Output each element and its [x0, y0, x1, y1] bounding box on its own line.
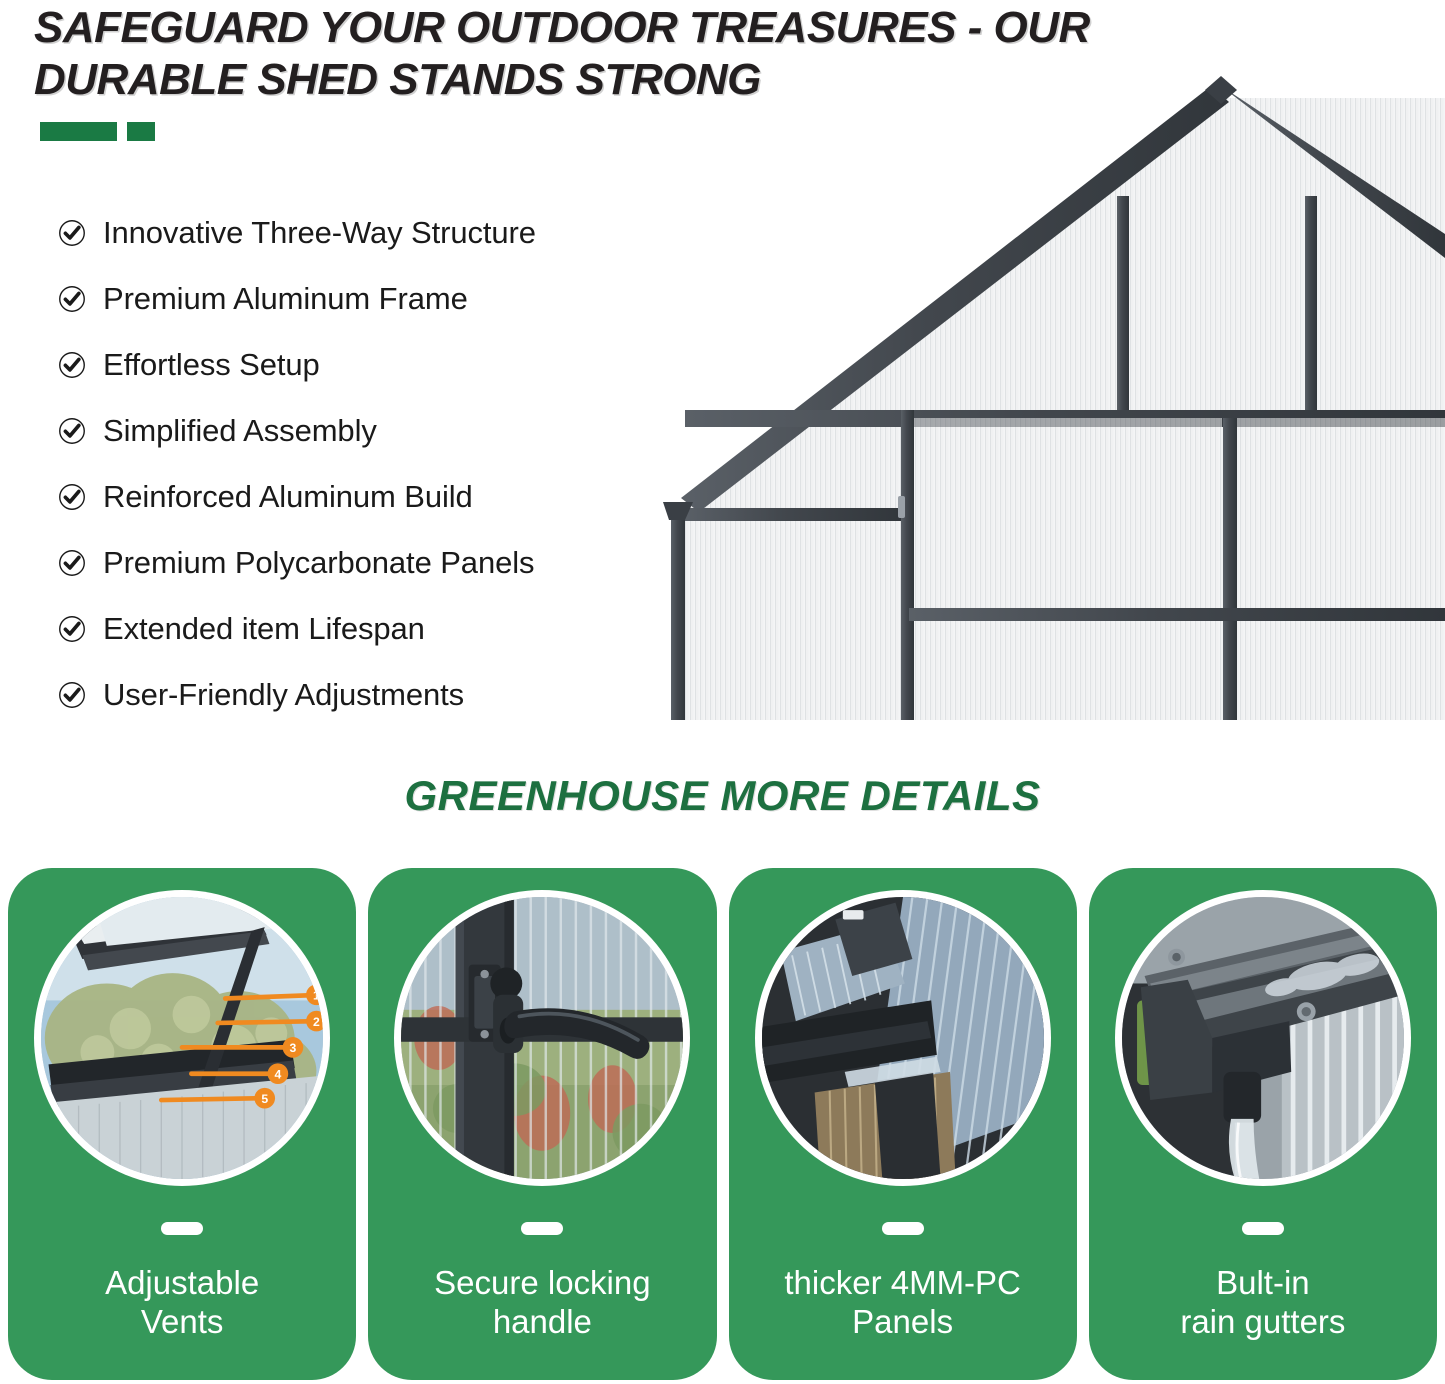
greenhouse-hero-image — [655, 20, 1445, 740]
check-circle-icon — [58, 351, 86, 379]
check-circle-icon — [58, 417, 86, 445]
check-circle-icon — [58, 549, 86, 577]
list-item: Premium Aluminum Frame — [58, 266, 698, 332]
card-caption: Adjustable Vents — [8, 1264, 356, 1341]
list-item: Simplified Assembly — [58, 398, 698, 464]
card-caption-line-2: Vents — [16, 1303, 348, 1342]
card-divider-pill — [882, 1222, 924, 1235]
card-caption-line-2: Panels — [737, 1303, 1069, 1342]
card-caption-line-1: thicker 4MM-PC — [784, 1264, 1021, 1301]
bullet-label: Innovative Three-Way Structure — [103, 215, 536, 251]
card-caption-line-2: handle — [376, 1303, 708, 1342]
photo-frame: 1 2 3 4 5 — [34, 890, 330, 1186]
rain-gutter-photo — [1122, 897, 1404, 1179]
svg-text:2: 2 — [313, 1015, 320, 1029]
svg-text:3: 3 — [290, 1041, 297, 1055]
check-circle-icon — [58, 483, 86, 511]
svg-text:5: 5 — [261, 1092, 268, 1106]
list-item: User-Friendly Adjustments — [58, 662, 698, 728]
bullet-label: Reinforced Aluminum Build — [103, 479, 473, 515]
bullet-label: Effortless Setup — [103, 347, 320, 383]
locking-handle-photo — [401, 897, 683, 1179]
bullet-label: Extended item Lifespan — [103, 611, 425, 647]
bullet-label: Premium Aluminum Frame — [103, 281, 468, 317]
card-caption-line-1: Secure locking — [434, 1264, 650, 1301]
check-circle-icon — [58, 219, 86, 247]
check-circle-icon — [58, 681, 86, 709]
accent-bar-narrow — [127, 122, 155, 141]
bullet-label: User-Friendly Adjustments — [103, 677, 464, 713]
card-caption-line-1: Adjustable — [105, 1264, 259, 1301]
list-item: Extended item Lifespan — [58, 596, 698, 662]
list-item: Effortless Setup — [58, 332, 698, 398]
detail-card-rain-gutters[interactable]: Bult-in rain gutters — [1089, 868, 1437, 1380]
list-item: Innovative Three-Way Structure — [58, 200, 698, 266]
accent-bar-wide — [40, 122, 117, 141]
detail-card-secure-locking-handle[interactable]: Secure locking handle — [368, 868, 716, 1380]
polycarbonate-panels-photo — [762, 897, 1044, 1179]
photo-frame — [1115, 890, 1411, 1186]
check-circle-icon — [58, 285, 86, 313]
accent-bars — [40, 122, 155, 141]
svg-text:4: 4 — [275, 1067, 282, 1081]
card-caption-line-1: Bult-in — [1216, 1264, 1310, 1301]
check-circle-icon — [58, 615, 86, 643]
card-caption: thicker 4MM-PC Panels — [729, 1264, 1077, 1341]
list-item: Reinforced Aluminum Build — [58, 464, 698, 530]
photo-frame — [394, 890, 690, 1186]
detail-cards-row: 1 2 3 4 5 Adjustable Vents — [8, 868, 1437, 1380]
roof-vent-photo: 1 2 3 4 5 — [41, 897, 323, 1179]
card-caption: Bult-in rain gutters — [1089, 1264, 1437, 1341]
detail-card-adjustable-vents[interactable]: 1 2 3 4 5 Adjustable Vents — [8, 868, 356, 1380]
section-title: GREENHOUSE MORE DETAILS — [0, 772, 1445, 820]
product-feature-page: SAFEGUARD YOUR OUTDOOR TREASURES - OUR D… — [0, 0, 1445, 1384]
bullet-label: Simplified Assembly — [103, 413, 377, 449]
card-caption-line-2: rain gutters — [1097, 1303, 1429, 1342]
card-divider-pill — [1242, 1222, 1284, 1235]
detail-card-thicker-pc-panels[interactable]: thicker 4MM-PC Panels — [729, 868, 1077, 1380]
bullet-label: Premium Polycarbonate Panels — [103, 545, 534, 581]
card-caption: Secure locking handle — [368, 1264, 716, 1341]
list-item: Premium Polycarbonate Panels — [58, 530, 698, 596]
svg-text:1: 1 — [313, 988, 320, 1002]
photo-frame — [755, 890, 1051, 1186]
feature-bullet-list: Innovative Three-Way Structure Premium A… — [58, 200, 698, 728]
card-divider-pill — [161, 1222, 203, 1235]
card-divider-pill — [521, 1222, 563, 1235]
greenhouse-illustration — [655, 20, 1445, 740]
